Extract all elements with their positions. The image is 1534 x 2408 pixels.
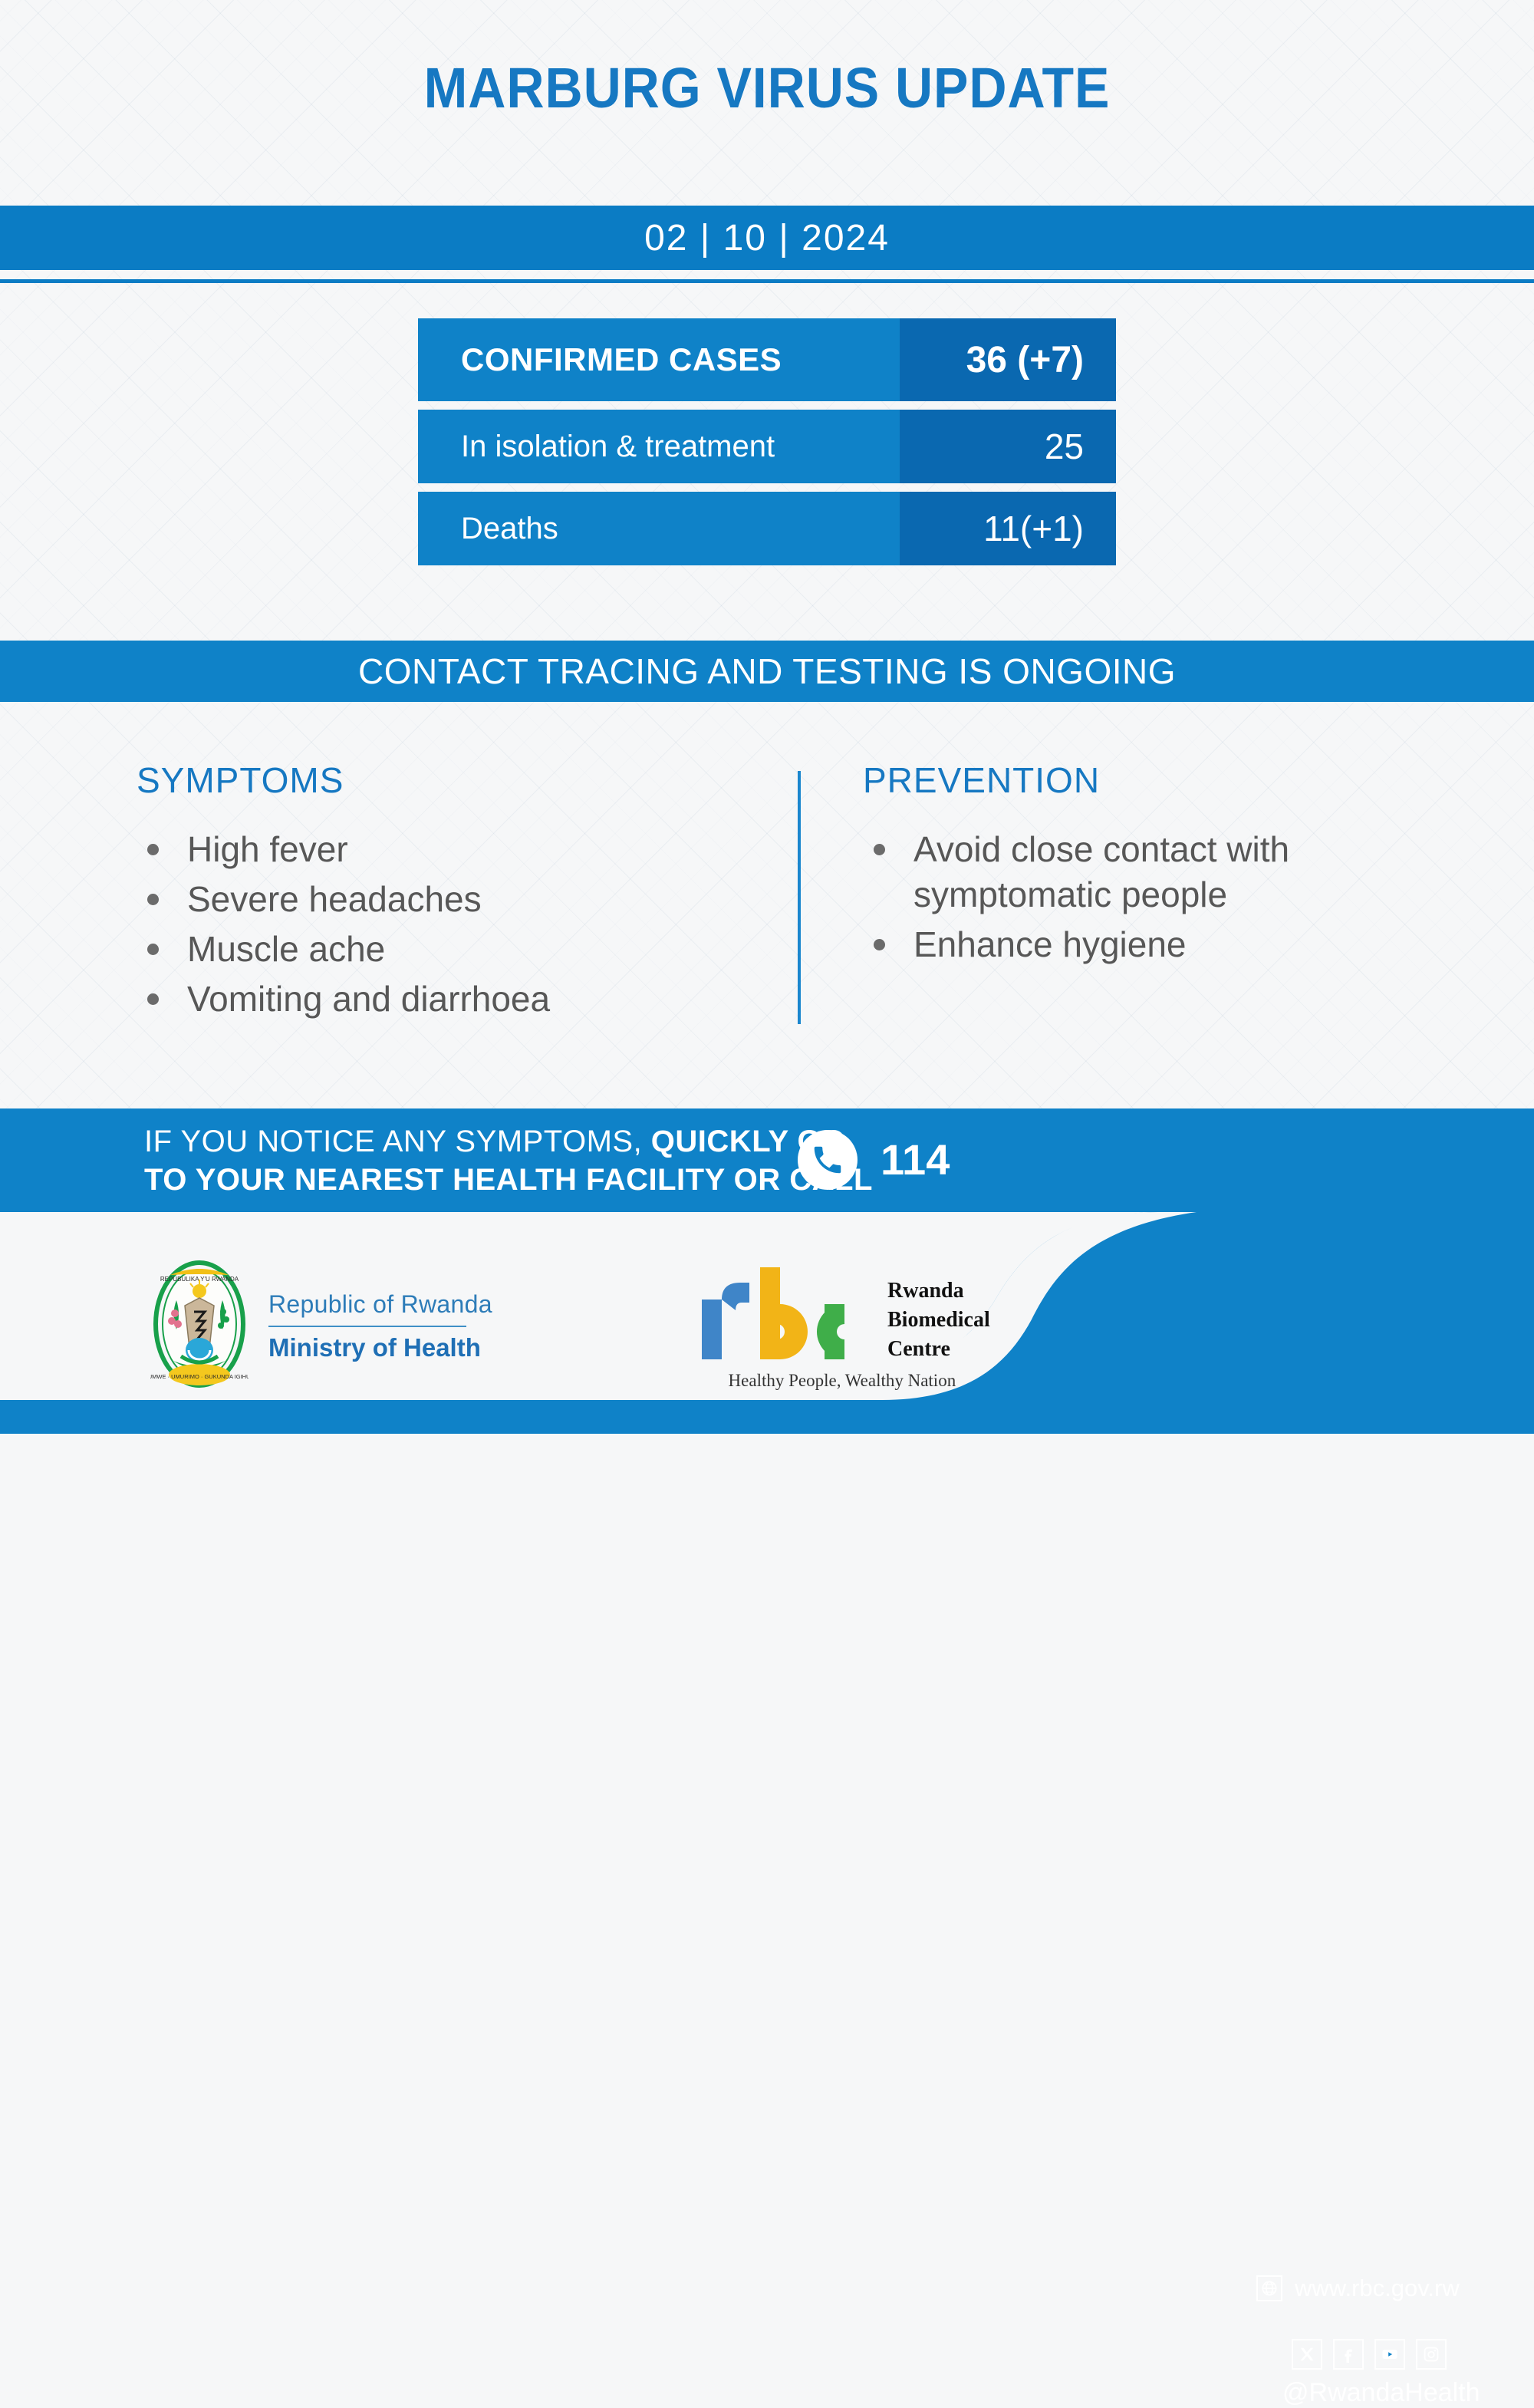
rbc-logo-icon (694, 1266, 875, 1359)
prevention-heading: PREVENTION (863, 759, 1400, 801)
stat-value: 11(+1) (900, 492, 1116, 565)
date-text: 02 | 10 | 2024 (644, 217, 890, 259)
stat-value: 36 (+7) (900, 318, 1116, 401)
x-twitter-icon[interactable] (1292, 2339, 1322, 2370)
table-row: Deaths 11(+1) (418, 492, 1116, 565)
infographic-page: MARBURG VIRUS UPDATE 02 | 10 | 2024 CONF… (0, 0, 1534, 1434)
ministry-of-health-logo: REPUBULIKA Y'U RWANDA UBUMWE · UMURIMO ·… (150, 1258, 492, 1390)
cta-line2: TO YOUR NEAREST HEALTH FACILITY OR CALL (144, 1161, 873, 1199)
stat-label: In isolation & treatment (418, 410, 900, 483)
cta-text: IF YOU NOTICE ANY SYMPTOMS, QUICKLY GO T… (144, 1122, 873, 1199)
gov-republic-label: Republic of Rwanda (268, 1290, 492, 1319)
rbc-name-line1: Rwanda (887, 1276, 990, 1306)
ministry-text-block: Republic of Rwanda Ministry of Health (268, 1286, 492, 1362)
stat-label: CONFIRMED CASES (418, 318, 900, 401)
instagram-icon[interactable] (1416, 2339, 1447, 2370)
table-row: In isolation & treatment 25 (418, 410, 1116, 483)
ongoing-banner: CONTACT TRACING AND TESTING IS ONGOING (0, 641, 1534, 702)
rwanda-coat-of-arms-icon: REPUBULIKA Y'U RWANDA UBUMWE · UMURIMO ·… (150, 1258, 249, 1390)
symptoms-column: SYMPTOMS High fever Severe headaches Mus… (137, 759, 750, 1026)
rbc-name-line3: Centre (887, 1335, 990, 1364)
youtube-icon[interactable] (1374, 2339, 1405, 2370)
symptoms-heading: SYMPTOMS (137, 759, 750, 801)
list-item: Enhance hygiene (863, 922, 1400, 967)
rbc-tagline: Healthy People, Wealthy Nation (729, 1371, 956, 1391)
date-rule (0, 279, 1534, 283)
rbc-main-row: Rwanda Biomedical Centre (694, 1266, 990, 1363)
social-handle: @RwandaHealth (1282, 2378, 1480, 2408)
globe-icon (1256, 2275, 1282, 2301)
ongoing-banner-text: CONTACT TRACING AND TESTING IS ONGOING (358, 651, 1176, 692)
rbc-name-block: Rwanda Biomedical Centre (887, 1266, 990, 1363)
page-title: MARBURG VIRUS UPDATE (61, 55, 1473, 120)
rbc-name-line2: Biomedical (887, 1306, 990, 1335)
rbc-logo-block: Rwanda Biomedical Centre Healthy People,… (694, 1266, 990, 1391)
list-item: Avoid close contact with symptomatic peo… (863, 827, 1400, 917)
list-item: Vomiting and diarrhoea (137, 977, 750, 1022)
website-row[interactable]: www.rbc.gov.rw (1256, 2275, 1460, 2302)
info-columns: SYMPTOMS High fever Severe headaches Mus… (0, 759, 1534, 1066)
gov-separator (268, 1326, 466, 1327)
date-band: 02 | 10 | 2024 (0, 206, 1534, 270)
prevention-list: Avoid close contact with symptomatic peo… (863, 827, 1400, 967)
emergency-number: 114 (881, 1135, 950, 1184)
column-divider (798, 771, 801, 1024)
facebook-icon[interactable] (1333, 2339, 1364, 2370)
list-item: High fever (137, 827, 750, 872)
list-item: Severe headaches (137, 877, 750, 922)
social-icons-row[interactable] (1292, 2339, 1447, 2370)
website-url[interactable]: www.rbc.gov.rw (1295, 2275, 1460, 2302)
stats-table: CONFIRMED CASES 36 (+7) In isolation & t… (418, 318, 1116, 574)
cta-band: IF YOU NOTICE ANY SYMPTOMS, QUICKLY GO T… (0, 1108, 1534, 1212)
phone-icon (798, 1130, 858, 1190)
svg-text:UBUMWE · UMURIMO · GUKUNDA IGI: UBUMWE · UMURIMO · GUKUNDA IGIHUGU (150, 1373, 249, 1380)
prevention-column: PREVENTION Avoid close contact with symp… (863, 759, 1400, 972)
gov-ministry-label: Ministry of Health (268, 1333, 492, 1362)
stat-label: Deaths (418, 492, 900, 565)
stat-value: 25 (900, 410, 1116, 483)
table-row: CONFIRMED CASES 36 (+7) (418, 318, 1116, 401)
symptoms-list: High fever Severe headaches Muscle ache … (137, 827, 750, 1022)
cta-line1-light: IF YOU NOTICE ANY SYMPTOMS, (144, 1125, 642, 1158)
list-item: Muscle ache (137, 927, 750, 972)
